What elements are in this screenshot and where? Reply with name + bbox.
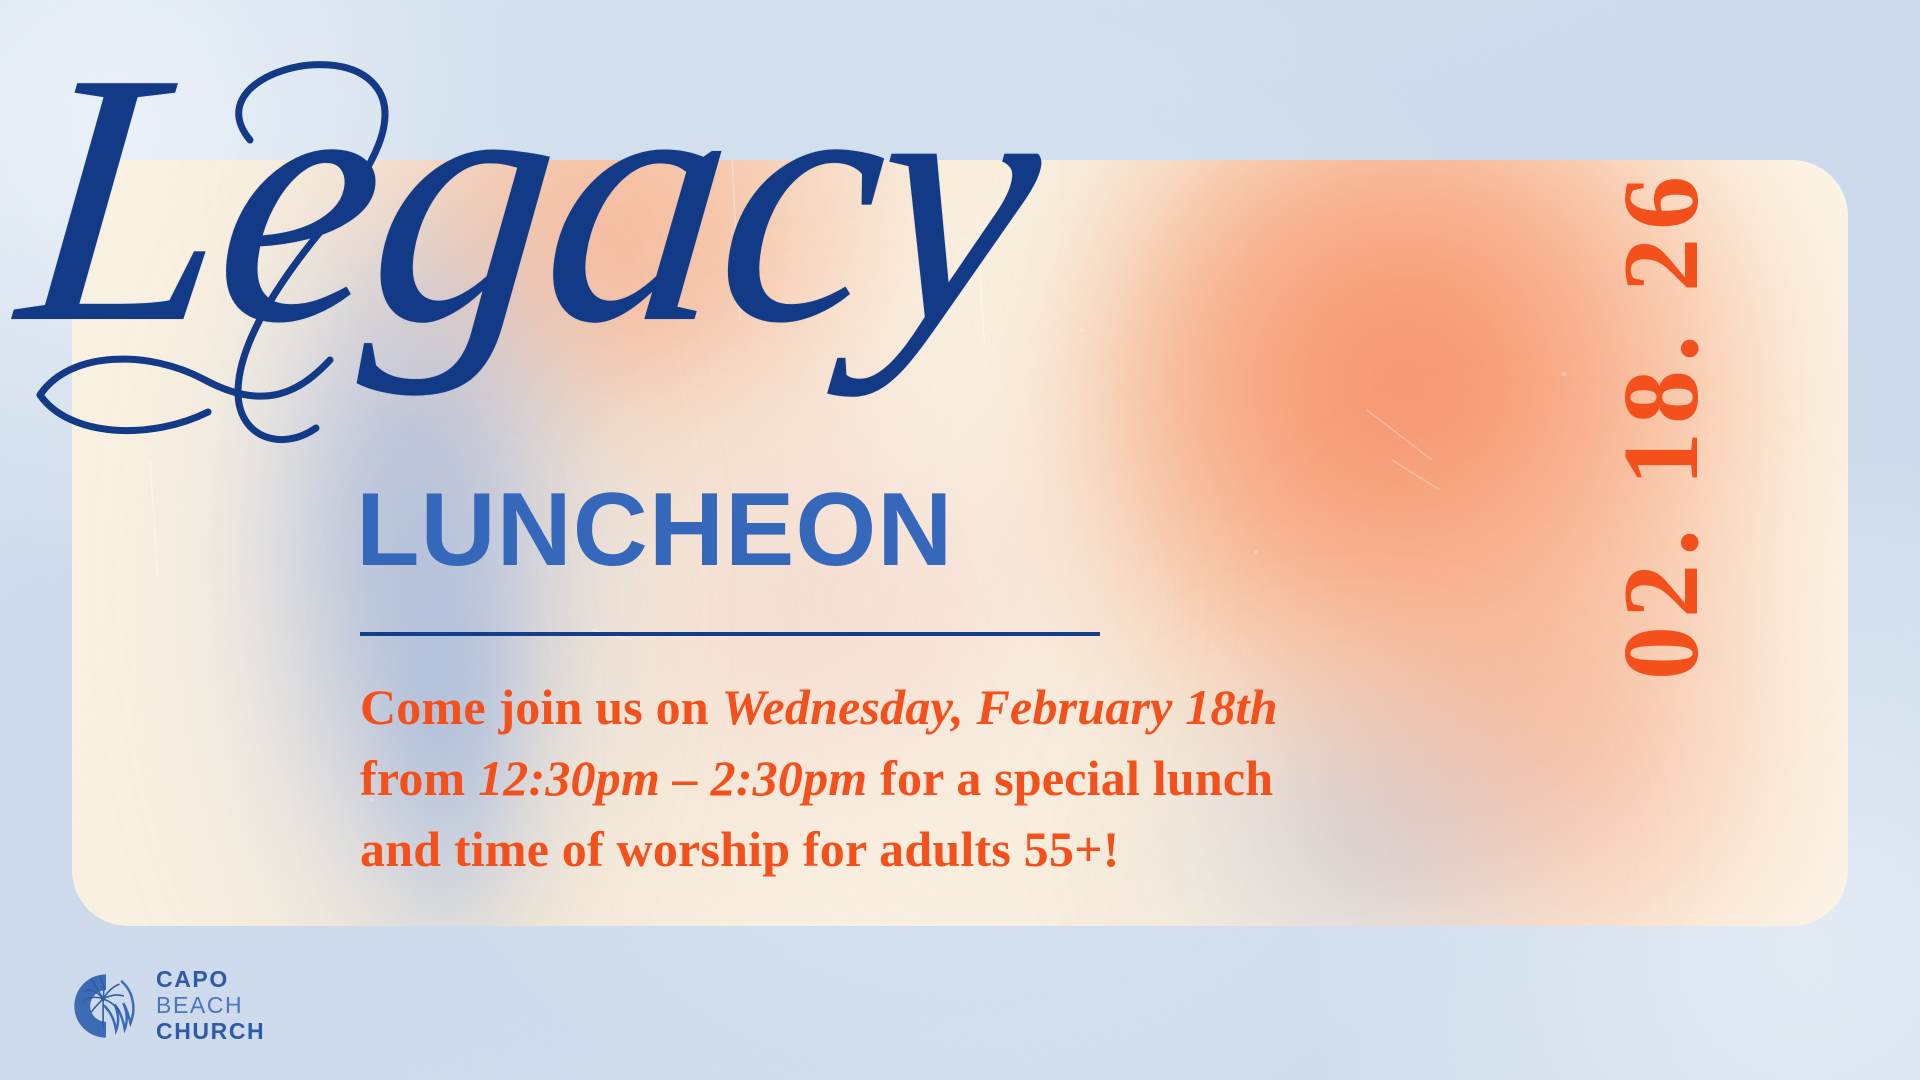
logo-line-beach: BEACH xyxy=(156,994,265,1017)
logo-line-capo: CAPO xyxy=(156,968,265,991)
divider-rule xyxy=(360,632,1100,636)
logo-wordmark: CAPO BEACH CHURCH xyxy=(156,968,265,1043)
logo-line-church: CHURCH xyxy=(156,1020,265,1043)
organization-logo[interactable]: CAPO BEACH CHURCH xyxy=(70,968,265,1043)
event-description: Come join us on Wednesday, February 18th… xyxy=(360,672,1540,885)
event-description-line-3: and time of worship for adults 55+! xyxy=(360,814,1540,885)
line2-time-emphasis: 12:30pm – 2:30pm xyxy=(478,750,867,806)
event-description-line-2: from 12:30pm – 2:30pm for a special lunc… xyxy=(360,743,1540,814)
line1-lead: Come join us on xyxy=(360,679,722,735)
line1-date-emphasis: Wednesday, February 18th xyxy=(722,679,1278,735)
block-headline: LUNCHEON xyxy=(356,478,953,582)
palm-circle-icon xyxy=(70,970,142,1042)
promo-poster: Legacy LUNCHEON Come join us on Wednesda… xyxy=(0,0,1920,1080)
line2-lead: from xyxy=(360,750,478,806)
event-description-line-1: Come join us on Wednesday, February 18th xyxy=(360,672,1540,743)
script-headline: Legacy xyxy=(9,18,1197,378)
event-date-vertical: 02. 18. 26 xyxy=(1600,200,1724,680)
line2-tail: for a special lunch xyxy=(867,750,1273,806)
